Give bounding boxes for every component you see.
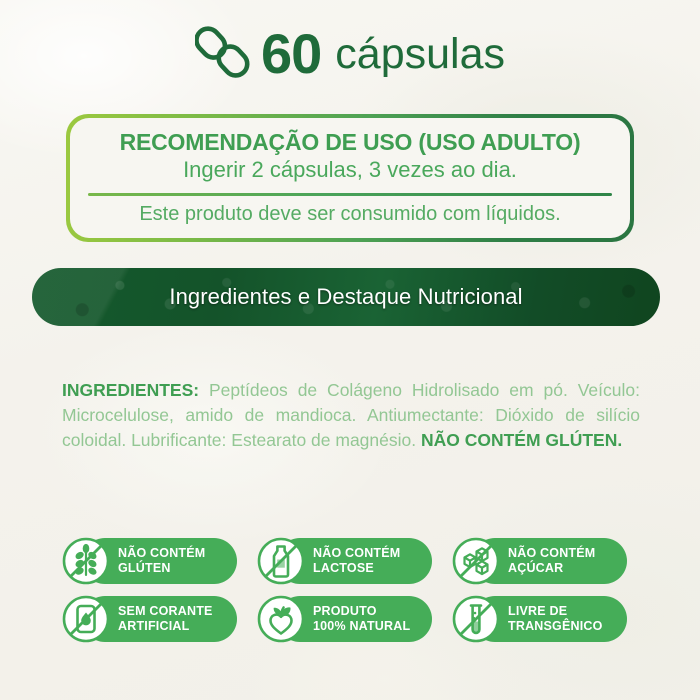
badge-gmo-free: LIVRE DE TRANSGÊNICO — [450, 592, 644, 646]
wheat-no-icon — [60, 535, 112, 587]
capsule-count-header: 60 cápsulas — [0, 0, 700, 100]
badge-label: PRODUTO 100% NATURAL — [313, 604, 410, 634]
badge-no-sugar: NÃO CONTÉM AÇÚCAR — [450, 534, 644, 588]
badge-no-lactose: NÃO CONTÉM LACTOSE — [255, 534, 449, 588]
recommendation-title: RECOMENDAÇÃO DE USO (USO ADULTO) — [120, 130, 581, 156]
sugar-no-icon — [450, 535, 502, 587]
badge-no-gluten: NÃO CONTÉM GLÚTEN — [60, 534, 254, 588]
claims-badge-grid: NÃO CONTÉM GLÚTEN NÃO CONTÉM LACTOSE — [60, 534, 660, 646]
badge-label: LIVRE DE TRANSGÊNICO — [508, 604, 603, 634]
badge-no-artificial-dye: SEM CORANTE ARTIFICIAL — [60, 592, 254, 646]
heart-leaf-icon — [255, 593, 307, 645]
badge-label: SEM CORANTE ARTIFICIAL — [118, 604, 213, 634]
ingredients-paragraph: INGREDIENTES: Peptídeos de Colágeno Hidr… — [62, 378, 640, 453]
badge-label: NÃO CONTÉM GLÚTEN — [118, 546, 205, 576]
badge-label: NÃO CONTÉM LACTOSE — [313, 546, 400, 576]
recommendation-divider — [88, 193, 612, 196]
ingredients-heading: INGREDIENTES: — [62, 380, 199, 400]
dye-no-icon — [60, 593, 112, 645]
section-banner: Ingredientes e Destaque Nutricional — [32, 268, 660, 326]
ingredients-gluten-highlight: NÃO CONTÉM GLÚTEN. — [421, 430, 622, 450]
product-label-panel: 60 cápsulas RECOMENDAÇÃO DE USO (USO ADU… — [0, 0, 700, 700]
section-banner-title: Ingredientes e Destaque Nutricional — [169, 284, 522, 310]
recommendation-box-inner: RECOMENDAÇÃO DE USO (USO ADULTO) Ingerir… — [70, 118, 630, 238]
test-tube-no-icon — [450, 593, 502, 645]
badge-100-natural: PRODUTO 100% NATURAL — [255, 592, 449, 646]
capsule-icon — [195, 23, 251, 86]
recommendation-dosage: Ingerir 2 cápsulas, 3 vezes ao dia. — [183, 157, 517, 183]
recommendation-note: Este produto deve ser consumido com líqu… — [139, 202, 560, 226]
milk-no-icon — [255, 535, 307, 587]
capsule-count-unit: cápsulas — [335, 33, 505, 76]
capsule-count-number: 60 — [261, 26, 321, 82]
recommendation-box: RECOMENDAÇÃO DE USO (USO ADULTO) Ingerir… — [66, 114, 634, 242]
badge-label: NÃO CONTÉM AÇÚCAR — [508, 546, 595, 576]
